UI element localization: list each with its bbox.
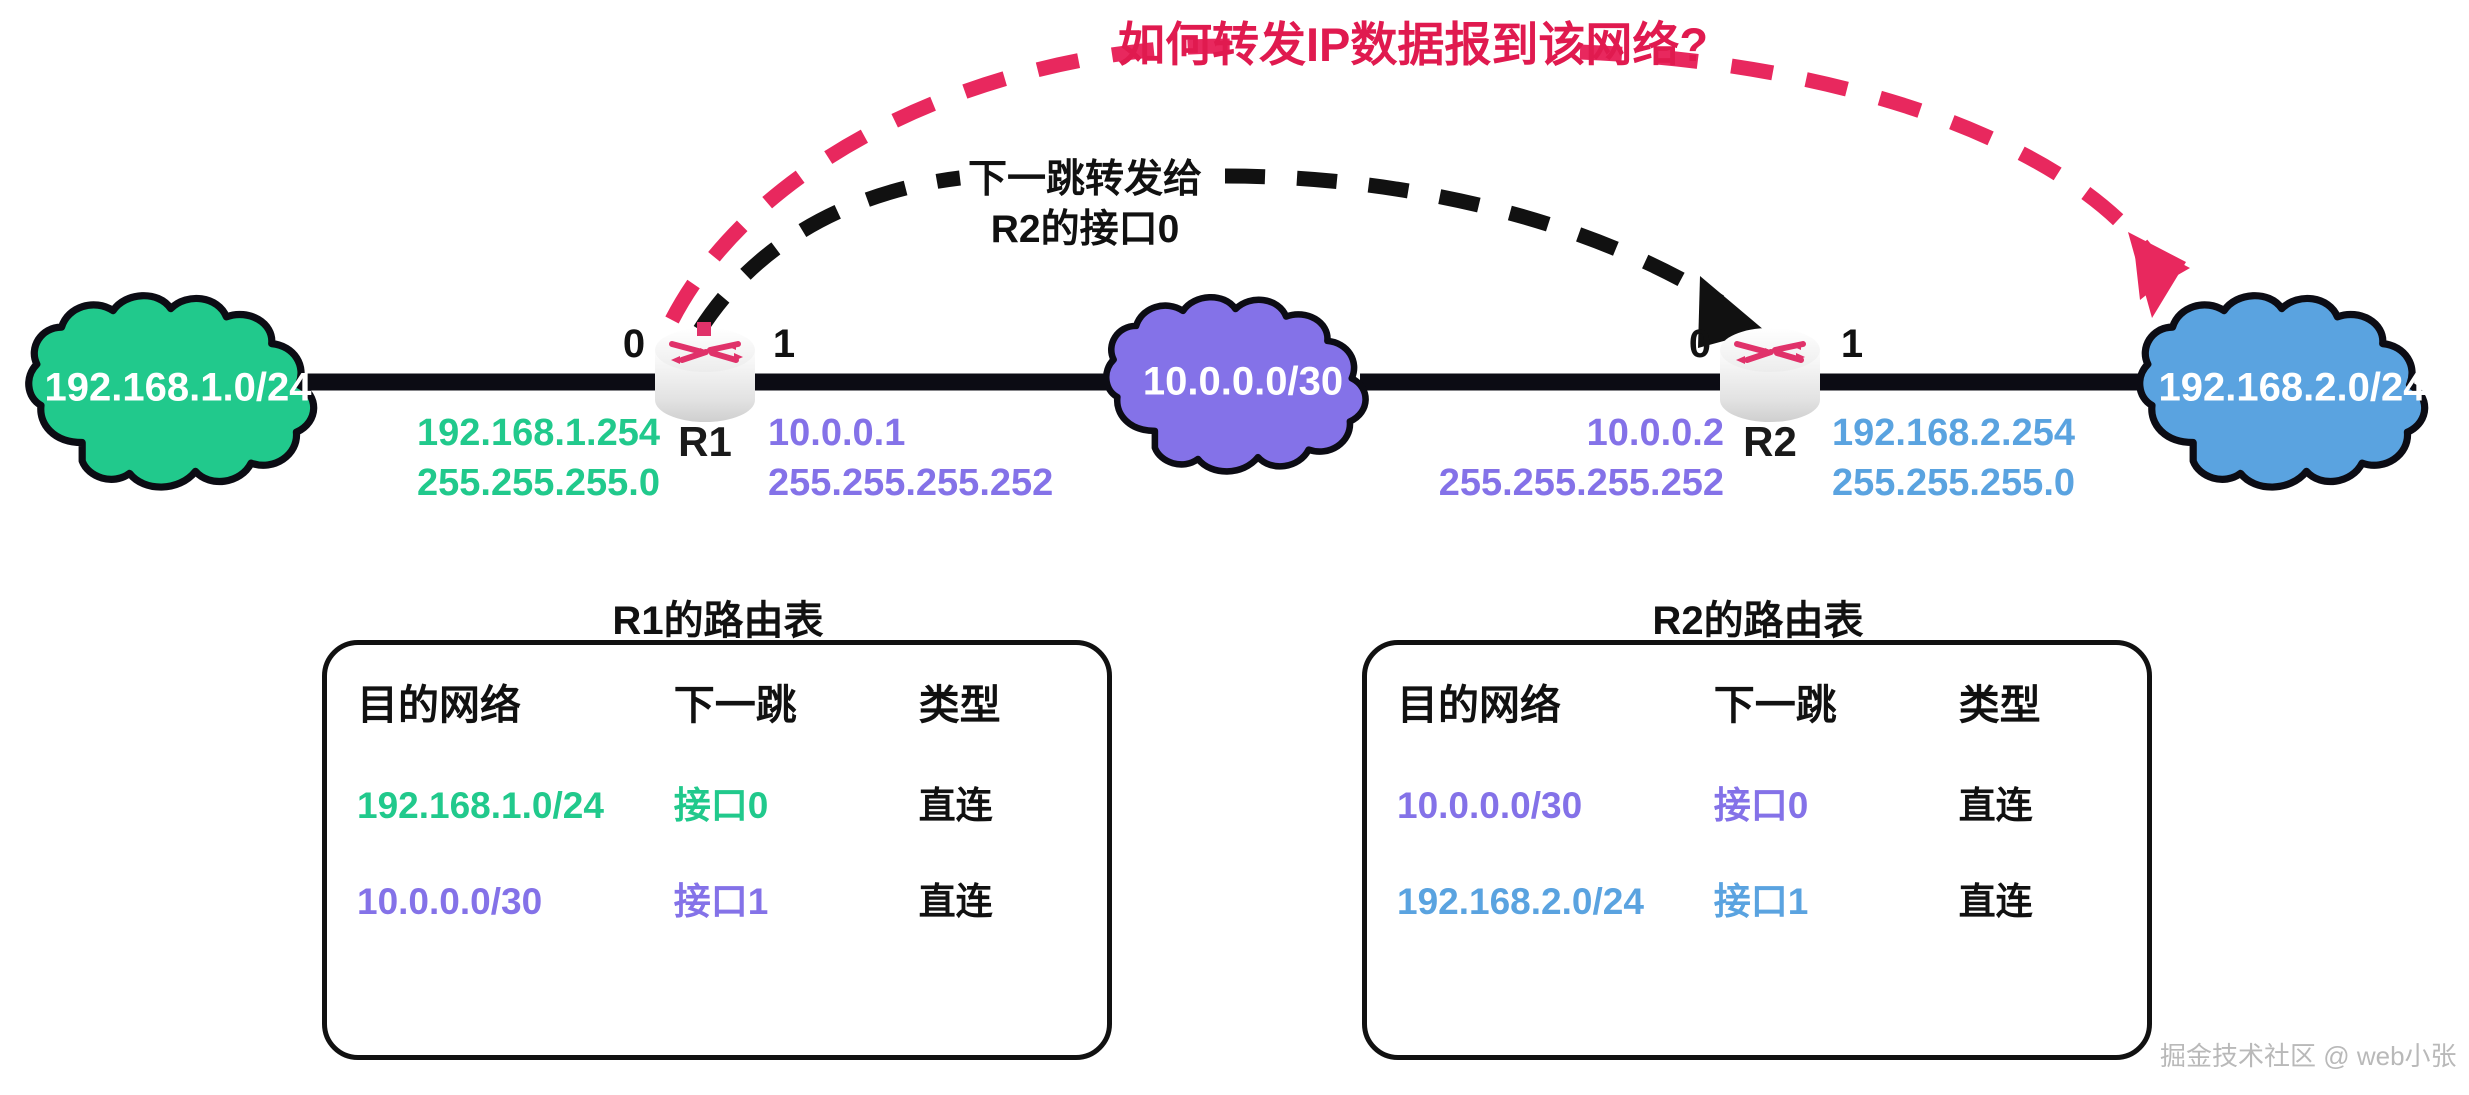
r1-routing-table: 目的网络 下一跳 类型 192.168.1.0/24 接口0 直连 10.0.0… (322, 640, 1112, 1060)
r2-header-type: 类型 (1959, 671, 2117, 731)
table-row: 10.0.0.0/30 接口0 直连 (1397, 775, 2117, 829)
r1-row0-type: 直连 (919, 775, 1077, 829)
table-row: 10.0.0.0/30 接口1 直连 (357, 871, 1077, 925)
r2-routing-table: 目的网络 下一跳 类型 10.0.0.0/30 接口0 直连 192.168.2… (1362, 640, 2152, 1060)
r2-interface-0-number: 0 (1689, 322, 1711, 367)
r2-row1-destination: 192.168.2.0/24 (1397, 881, 1714, 923)
r1-header-type: 类型 (919, 671, 1077, 731)
r1-interface-1-number: 1 (773, 322, 795, 367)
nexthop-annotation-line2: R2的接口0 (968, 205, 1202, 255)
r1-row1-type: 直连 (919, 871, 1077, 925)
r1-row1-destination: 10.0.0.0/30 (357, 881, 674, 923)
table-row: 192.168.1.0/24 接口0 直连 (357, 775, 1077, 829)
watermark: 掘金技术社区 @ web小张 (2160, 1036, 2457, 1073)
router-r2-icon[interactable] (1720, 328, 1820, 422)
cloud-label-middle-network: 10.0.0.0/30 (1143, 360, 1343, 405)
r1-row0-nexthop: 接口0 (674, 775, 919, 829)
question-title: 如何转发IP数据报到该网络? (1118, 6, 1708, 75)
r2-row0-destination: 10.0.0.0/30 (1397, 785, 1714, 827)
r1-header-destination: 目的网络 (357, 671, 674, 731)
r1-interface-1-address: 10.0.0.1 255.255.255.252 (768, 408, 1053, 508)
r2-interface-1-mask: 255.255.255.0 (1832, 458, 2075, 508)
r2-row0-nexthop: 接口0 (1714, 775, 1959, 829)
nexthop-annotation: 下一跳转发给 R2的接口0 (968, 155, 1202, 255)
r2-routing-table-header-row: 目的网络 下一跳 类型 (1397, 671, 2117, 731)
router-r2-label: R2 (1743, 418, 1797, 466)
r2-row0-type: 直连 (1959, 775, 2117, 829)
r2-row1-nexthop: 接口1 (1714, 871, 1959, 925)
r1-interface-0-mask: 255.255.255.0 (417, 458, 660, 508)
r2-interface-1-number: 1 (1841, 322, 1863, 367)
table-row: 192.168.2.0/24 接口1 直连 (1397, 871, 2117, 925)
r2-interface-1-ip: 192.168.2.254 (1832, 408, 2075, 458)
router-r1-icon[interactable] (655, 322, 755, 422)
cloud-label-right-network: 192.168.2.0/24 (2159, 366, 2426, 411)
r2-header-destination: 目的网络 (1397, 671, 1714, 731)
r1-header-nexthop: 下一跳 (674, 671, 919, 731)
cloud-label-left-network: 192.168.1.0/24 (45, 366, 312, 411)
r2-header-nexthop: 下一跳 (1714, 671, 1959, 731)
r2-interface-0-mask: 255.255.255.252 (1439, 458, 1724, 508)
r1-interface-1-mask: 255.255.255.252 (768, 458, 1053, 508)
r1-interface-0-number: 0 (623, 322, 645, 367)
nexthop-annotation-line1: 下一跳转发给 (968, 155, 1202, 205)
r2-interface-1-address: 192.168.2.254 255.255.255.0 (1832, 408, 2075, 508)
r2-interface-0-address: 10.0.0.2 255.255.255.252 (1439, 408, 1724, 508)
r1-routing-table-title: R1的路由表 (612, 588, 823, 646)
r1-interface-0-ip: 192.168.1.254 (417, 408, 660, 458)
router-r1-label: R1 (678, 418, 732, 466)
r1-row1-nexthop: 接口1 (674, 871, 919, 925)
r1-row0-destination: 192.168.1.0/24 (357, 785, 674, 827)
r2-interface-0-ip: 10.0.0.2 (1439, 408, 1724, 458)
r2-row1-type: 直连 (1959, 871, 2117, 925)
r1-routing-table-header-row: 目的网络 下一跳 类型 (357, 671, 1077, 731)
r1-interface-1-ip: 10.0.0.1 (768, 408, 1053, 458)
r1-interface-0-address: 192.168.1.254 255.255.255.0 (417, 408, 660, 508)
network-routing-diagram: 如何转发IP数据报到该网络? 下一跳转发给 R2的接口0 192.168.1.0… (0, 0, 2469, 1095)
r2-routing-table-title: R2的路由表 (1652, 588, 1863, 646)
